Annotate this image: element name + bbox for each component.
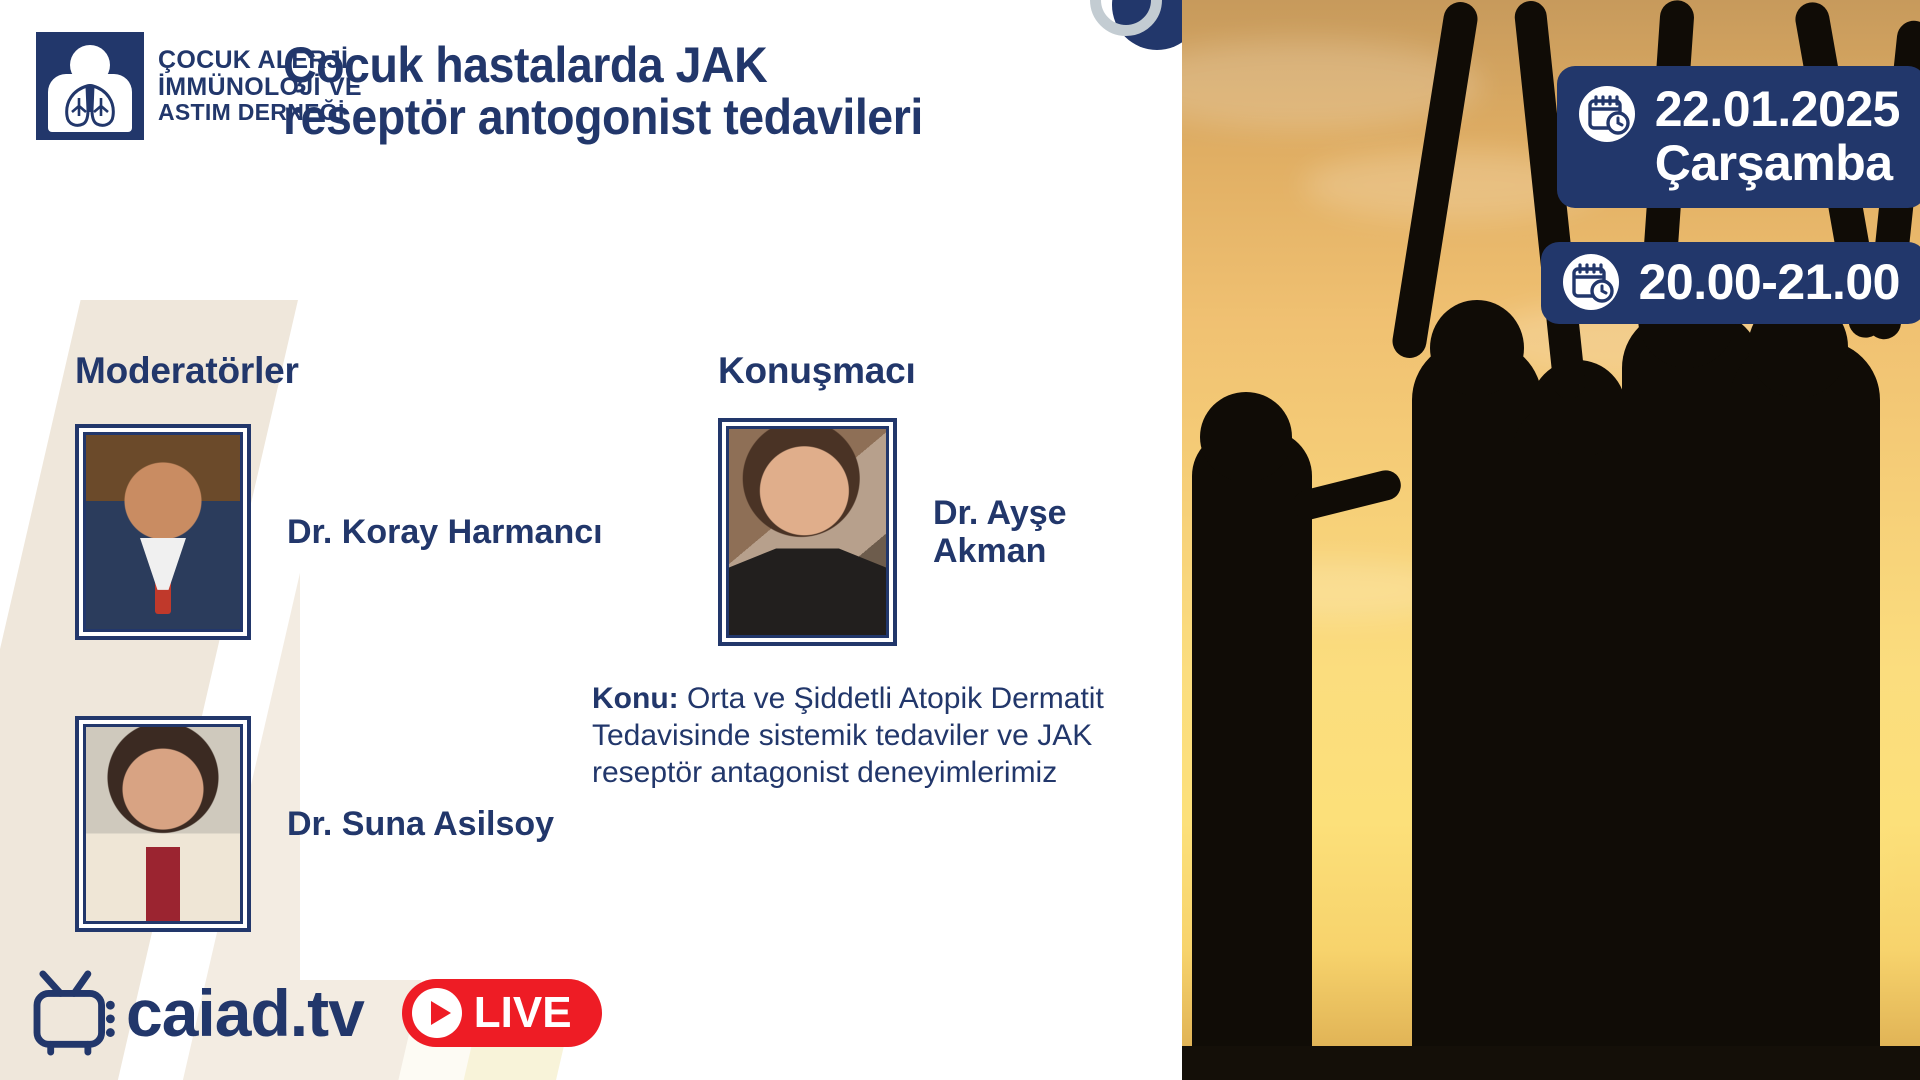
site-name[interactable]: caiad.tv: [126, 975, 364, 1051]
date-badge-text: 22.01.2025 Çarşamba: [1655, 82, 1900, 190]
topic-label: Konu:: [592, 682, 679, 715]
torso-lungs-icon: [36, 32, 144, 140]
grass-silhouette: [1782, 860, 1788, 1040]
child-silhouette-head: [1430, 300, 1524, 396]
child-silhouette: [1730, 340, 1880, 1060]
avatar-frame: [75, 716, 251, 932]
ground-silhouette: [1182, 1046, 1920, 1080]
live-label: LIVE: [474, 988, 572, 1038]
time-badge-text: 20.00-21.00: [1639, 255, 1900, 309]
moderator-card-suna-asilsoy: Dr. Suna Asilsoy: [75, 716, 554, 932]
portrait-suna-asilsoy: [86, 727, 240, 921]
avatar: [83, 724, 243, 924]
date-badge: 22.01.2025 Çarşamba: [1557, 66, 1920, 208]
moderator-name: Dr. Suna Asilsoy: [287, 805, 554, 843]
page-title: Çocuk hastalarda JAK reseptör antogonist…: [283, 40, 925, 143]
time-value: 20.00-21.00: [1639, 254, 1900, 310]
speaker-topic: Konu: Orta ve Şiddetli Atopik Dermatit T…: [592, 680, 1182, 792]
child-silhouette: [1192, 430, 1312, 1050]
speaker-heading: Konuşmacı: [718, 350, 916, 392]
webinar-poster: ÇOCUK ALERJİ İMMÜNOLOJİ VE ASTIM DERNEĞİ…: [0, 0, 1920, 1080]
speaker-name: Dr. Ayşe Akman: [933, 494, 1182, 570]
date-value: 22.01.2025: [1655, 81, 1900, 137]
television-icon: [30, 968, 134, 1058]
moderator-name: Dr. Koray Harmancı: [287, 513, 603, 551]
calendar-clock-icon: [1563, 254, 1619, 310]
portrait-ayse-akman: [729, 429, 886, 635]
weekday-value: Çarşamba: [1655, 136, 1900, 190]
moderator-card-koray-harmanci: Dr. Koray Harmancı: [75, 424, 603, 640]
avatar: [726, 426, 889, 638]
left-content-panel: ÇOCUK ALERJİ İMMÜNOLOJİ VE ASTIM DERNEĞİ…: [0, 0, 1182, 1080]
grass-silhouette: [1862, 900, 1868, 1050]
moderators-heading: Moderatörler: [75, 350, 299, 392]
lungs-glyph: [59, 82, 121, 130]
hero-photo-children-sunset: 22.01.2025 Çarşamba 20.00-21.00: [1182, 0, 1920, 1080]
speaker-card-ayse-akman: Dr. Ayşe Akman: [718, 418, 1182, 646]
avatar-frame: [718, 418, 897, 646]
time-badge: 20.00-21.00: [1541, 242, 1920, 324]
calendar-clock-icon: [1579, 86, 1635, 142]
avatar: [83, 432, 243, 632]
live-badge[interactable]: LIVE: [402, 979, 602, 1047]
branding-bar: caiad.tv LIVE: [30, 968, 602, 1058]
portrait-koray-harmanci: [86, 435, 240, 629]
child-silhouette-head: [1200, 392, 1292, 482]
play-icon: [412, 988, 462, 1038]
avatar-frame: [75, 424, 251, 640]
